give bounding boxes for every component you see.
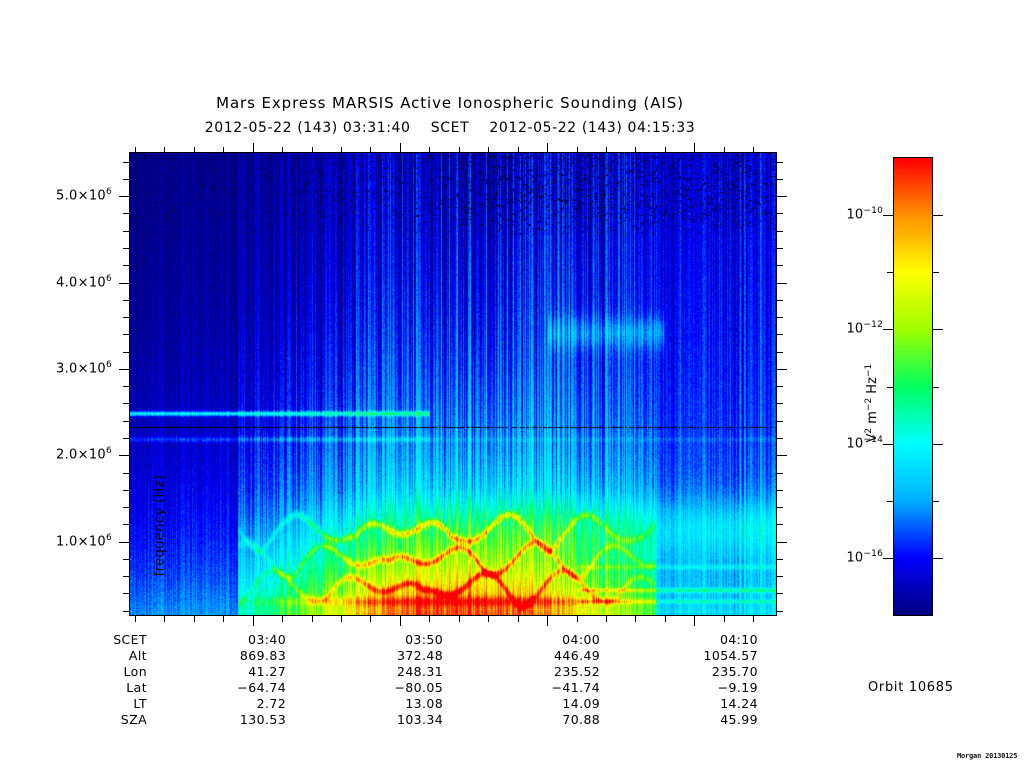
colorbar-tick-major — [933, 444, 943, 445]
x-tick-minor — [606, 616, 607, 622]
y-tick-label-exponent: 6 — [106, 533, 112, 543]
y-tick-minor — [777, 576, 783, 577]
x-tick-minor — [282, 616, 283, 622]
colorbar-tick-major — [883, 558, 893, 559]
x-tick-minor — [135, 147, 136, 153]
y-tick-minor — [123, 334, 129, 335]
y-tick-minor — [123, 162, 129, 163]
x-tick-minor — [164, 616, 165, 622]
watermark-label: Morgan 20130125 — [957, 752, 1017, 760]
param-value: 1054.57 — [622, 648, 780, 664]
colorbar-tick-major — [933, 558, 943, 559]
colorbar-unit-hz: Hz — [865, 377, 880, 398]
x-tick-minor — [370, 616, 371, 622]
x-tick-minor — [724, 147, 725, 153]
y-tick-minor — [777, 179, 783, 180]
colorbar-tick-mantissa: 10 — [846, 207, 863, 222]
y-tick-label-exponent: 6 — [106, 360, 112, 370]
colorbar-axis-label: V2 m−2 Hz−1 — [864, 323, 880, 483]
param-row-label: SZA — [40, 712, 151, 728]
plot-page: Mars Express MARSIS Active Ionospheric S… — [0, 0, 1024, 768]
colorbar-tick-minor — [887, 272, 893, 273]
x-tick-major — [253, 616, 254, 626]
x-tick-minor — [341, 147, 342, 153]
y-tick-minor — [777, 559, 783, 560]
y-tick-minor — [123, 611, 129, 612]
colorbar-tick-major — [883, 444, 893, 445]
y-tick-major — [777, 196, 787, 197]
param-value: 14.09 — [465, 696, 622, 712]
param-value: 03:50 — [308, 632, 465, 648]
y-tick-minor — [123, 352, 129, 353]
y-tick-minor — [777, 334, 783, 335]
param-value: 41.27 — [151, 664, 308, 680]
colorbar-tick-major — [883, 329, 893, 330]
x-tick-minor — [753, 147, 754, 153]
y-tick-minor — [777, 265, 783, 266]
param-row-label: LT — [40, 696, 151, 712]
param-value: 04:00 — [465, 632, 622, 648]
param-value: −64.74 — [151, 680, 308, 696]
param-value: 235.70 — [622, 664, 780, 680]
table-row: SZA130.53103.3470.8845.99 — [40, 712, 780, 728]
y-tick-minor — [123, 421, 129, 422]
param-row-label: Alt — [40, 648, 151, 664]
x-tick-minor — [635, 147, 636, 153]
param-value: 70.88 — [465, 712, 622, 728]
y-tick-minor — [123, 438, 129, 439]
x-tick-minor — [577, 147, 578, 153]
colorbar-unit-m: m — [865, 411, 880, 428]
y-tick-major — [777, 283, 787, 284]
param-value: 446.49 — [465, 648, 622, 664]
colorbar-tick-minor — [933, 387, 939, 388]
x-tick-minor — [724, 616, 725, 622]
colorbar-tick-minor — [933, 272, 939, 273]
y-tick-label-mantissa: 2.0×10 — [56, 447, 106, 462]
x-tick-minor — [312, 616, 313, 622]
y-tick-minor — [777, 438, 783, 439]
param-value: −80.05 — [308, 680, 465, 696]
x-tick-minor — [429, 616, 430, 622]
x-tick-minor — [665, 147, 666, 153]
x-tick-major — [547, 616, 548, 626]
y-tick-minor — [777, 421, 783, 422]
y-tick-minor — [123, 576, 129, 577]
y-tick-label: 2.0×106 — [56, 446, 112, 462]
y-tick-minor — [123, 179, 129, 180]
param-value: 2.72 — [151, 696, 308, 712]
x-tick-major — [400, 616, 401, 626]
x-tick-minor — [341, 616, 342, 622]
x-tick-minor — [459, 147, 460, 153]
y-tick-minor — [777, 162, 783, 163]
y-tick-label: 1.0×106 — [56, 533, 112, 549]
param-value: 04:10 — [622, 632, 780, 648]
x-tick-minor — [488, 147, 489, 153]
x-tick-minor — [753, 616, 754, 622]
colorbar-unit-m-exp: −2 — [864, 398, 874, 411]
y-tick-label: 5.0×106 — [56, 187, 112, 203]
param-value: 235.52 — [465, 664, 622, 680]
y-tick-minor — [777, 300, 783, 301]
param-value: 13.08 — [308, 696, 465, 712]
y-tick-major — [119, 455, 129, 456]
x-tick-minor — [459, 616, 460, 622]
table-row: LT2.7213.0814.0914.24 — [40, 696, 780, 712]
x-tick-minor — [665, 616, 666, 622]
y-tick-major — [777, 542, 787, 543]
parameter-table: SCET03:4003:5004:0004:10Alt869.83372.484… — [40, 632, 780, 728]
y-tick-minor — [777, 490, 783, 491]
param-value: −9.19 — [622, 680, 780, 696]
y-tick-major — [119, 283, 129, 284]
param-value: 372.48 — [308, 648, 465, 664]
x-tick-minor — [312, 147, 313, 153]
y-tick-major — [777, 455, 787, 456]
y-tick-minor — [123, 559, 129, 560]
x-tick-minor — [606, 147, 607, 153]
colorbar-unit-hz-exp: −1 — [864, 364, 874, 377]
y-tick-minor — [123, 490, 129, 491]
x-tick-minor — [164, 147, 165, 153]
y-tick-label-exponent: 6 — [106, 446, 112, 456]
colorbar-tick-major — [883, 215, 893, 216]
y-tick-label: 4.0×106 — [56, 274, 112, 290]
x-tick-minor — [194, 616, 195, 622]
x-tick-minor — [135, 616, 136, 622]
y-tick-minor — [123, 231, 129, 232]
table-row: SCET03:4003:5004:0004:10 — [40, 632, 780, 648]
colorbar-unit-v: V — [865, 434, 880, 443]
y-tick-minor — [777, 317, 783, 318]
param-value: 869.83 — [151, 648, 308, 664]
y-tick-minor — [777, 213, 783, 214]
y-tick-minor — [123, 300, 129, 301]
y-axis-label: frequency (Hz) — [153, 426, 168, 626]
y-tick-minor — [777, 403, 783, 404]
y-tick-major — [777, 369, 787, 370]
y-tick-minor — [123, 213, 129, 214]
y-tick-minor — [123, 473, 129, 474]
colorbar-tick-exponent: −10 — [863, 206, 883, 216]
param-value: 103.34 — [308, 712, 465, 728]
x-tick-minor — [577, 616, 578, 622]
y-tick-minor — [123, 524, 129, 525]
colorbar-tick-mantissa: 10 — [846, 321, 863, 336]
colorbar-tick-mantissa: 10 — [846, 436, 863, 451]
x-tick-minor — [223, 616, 224, 622]
y-tick-minor — [777, 473, 783, 474]
x-tick-major — [400, 143, 401, 153]
x-tick-major — [547, 143, 548, 153]
colorbar-unit-v-exp: 2 — [864, 428, 874, 434]
colorbar-tick-label: 10−10 — [846, 206, 883, 222]
x-tick-minor — [194, 147, 195, 153]
orbit-label: Orbit 10685 — [868, 680, 954, 695]
page-subtitle: 2012-05-22 (143) 03:31:40 SCET 2012-05-2… — [0, 120, 900, 136]
y-tick-minor — [123, 593, 129, 594]
colorbar-tick-exponent: −16 — [863, 549, 883, 559]
page-title: Mars Express MARSIS Active Ionospheric S… — [0, 94, 900, 112]
y-tick-minor — [123, 386, 129, 387]
y-tick-minor — [777, 231, 783, 232]
y-tick-minor — [123, 248, 129, 249]
y-tick-minor — [777, 386, 783, 387]
x-tick-major — [694, 616, 695, 626]
y-tick-minor — [777, 611, 783, 612]
y-tick-minor — [777, 248, 783, 249]
x-tick-minor — [518, 616, 519, 622]
table-row: Lon41.27248.31235.52235.70 — [40, 664, 780, 680]
colorbar-tick-major — [933, 329, 943, 330]
colorbar-tick-major — [933, 215, 943, 216]
y-tick-label-exponent: 6 — [106, 187, 112, 197]
colorbar-tick-mantissa: 10 — [846, 550, 863, 565]
param-row-label: Lat — [40, 680, 151, 696]
y-tick-minor — [123, 265, 129, 266]
x-tick-minor — [518, 147, 519, 153]
x-tick-minor — [223, 147, 224, 153]
y-tick-label-mantissa: 4.0×10 — [56, 275, 106, 290]
y-tick-label: 3.0×106 — [56, 360, 112, 376]
y-tick-minor — [123, 403, 129, 404]
x-tick-minor — [370, 147, 371, 153]
param-value: −41.74 — [465, 680, 622, 696]
y-tick-major — [119, 196, 129, 197]
y-tick-label-mantissa: 5.0×10 — [56, 188, 106, 203]
param-value: 45.99 — [622, 712, 780, 728]
x-tick-major — [694, 143, 695, 153]
y-tick-minor — [123, 317, 129, 318]
x-tick-minor — [488, 616, 489, 622]
x-tick-minor — [429, 147, 430, 153]
y-tick-minor — [777, 352, 783, 353]
y-tick-minor — [777, 593, 783, 594]
param-value: 130.53 — [151, 712, 308, 728]
table-row: Lat−64.74−80.05−41.74−9.19 — [40, 680, 780, 696]
x-tick-minor — [282, 147, 283, 153]
y-tick-minor — [777, 507, 783, 508]
y-tick-major — [119, 542, 129, 543]
y-tick-minor — [777, 524, 783, 525]
x-tick-minor — [635, 616, 636, 622]
spectrogram-plot[interactable]: frequency (Hz) 03:4003:5004:0004:10 1.0×… — [129, 152, 777, 616]
param-value: 03:40 — [151, 632, 308, 648]
y-tick-label-exponent: 6 — [106, 274, 112, 284]
param-value: 14.24 — [622, 696, 780, 712]
colorbar-tick-minor — [887, 387, 893, 388]
y-tick-major — [119, 369, 129, 370]
colorbar-tick-label: 10−16 — [846, 549, 883, 565]
spectrogram-canvas[interactable] — [130, 153, 776, 615]
y-tick-minor — [123, 507, 129, 508]
param-value: 248.31 — [308, 664, 465, 680]
param-row-label: SCET — [40, 632, 151, 648]
colorbar-tick-minor — [887, 501, 893, 502]
colorbar-tick-minor — [933, 501, 939, 502]
colorbar[interactable]: 10−1010−1210−1410−16 — [893, 157, 933, 616]
param-row-label: Lon — [40, 664, 151, 680]
y-tick-label-mantissa: 3.0×10 — [56, 361, 106, 376]
table-row: Alt869.83372.48446.491054.57 — [40, 648, 780, 664]
colorbar-gradient — [894, 158, 932, 615]
y-tick-label-mantissa: 1.0×10 — [56, 534, 106, 549]
x-tick-major — [253, 143, 254, 153]
